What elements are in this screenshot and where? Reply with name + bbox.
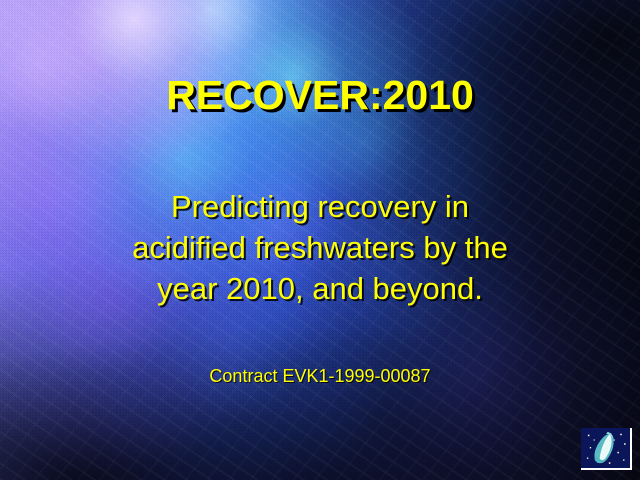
presentation-slide: RECOVER:2010 Predicting recovery in acid… xyxy=(0,0,640,480)
project-logo xyxy=(581,428,632,470)
slide-subtitle-line-2: acidified freshwaters by the xyxy=(0,227,640,268)
slide-subtitle-line-1: Predicting recovery in xyxy=(0,186,640,227)
contract-reference: Contract EVK1-1999-00087 xyxy=(0,366,640,387)
slide-title: RECOVER:2010 xyxy=(0,75,640,116)
leaf-emblem-icon xyxy=(581,428,630,468)
slide-subtitle: Predicting recovery in acidified freshwa… xyxy=(0,186,640,309)
slide-text-stack: RECOVER:2010 Predicting recovery in acid… xyxy=(0,0,640,480)
slide-subtitle-line-3: year 2010, and beyond. xyxy=(0,268,640,309)
